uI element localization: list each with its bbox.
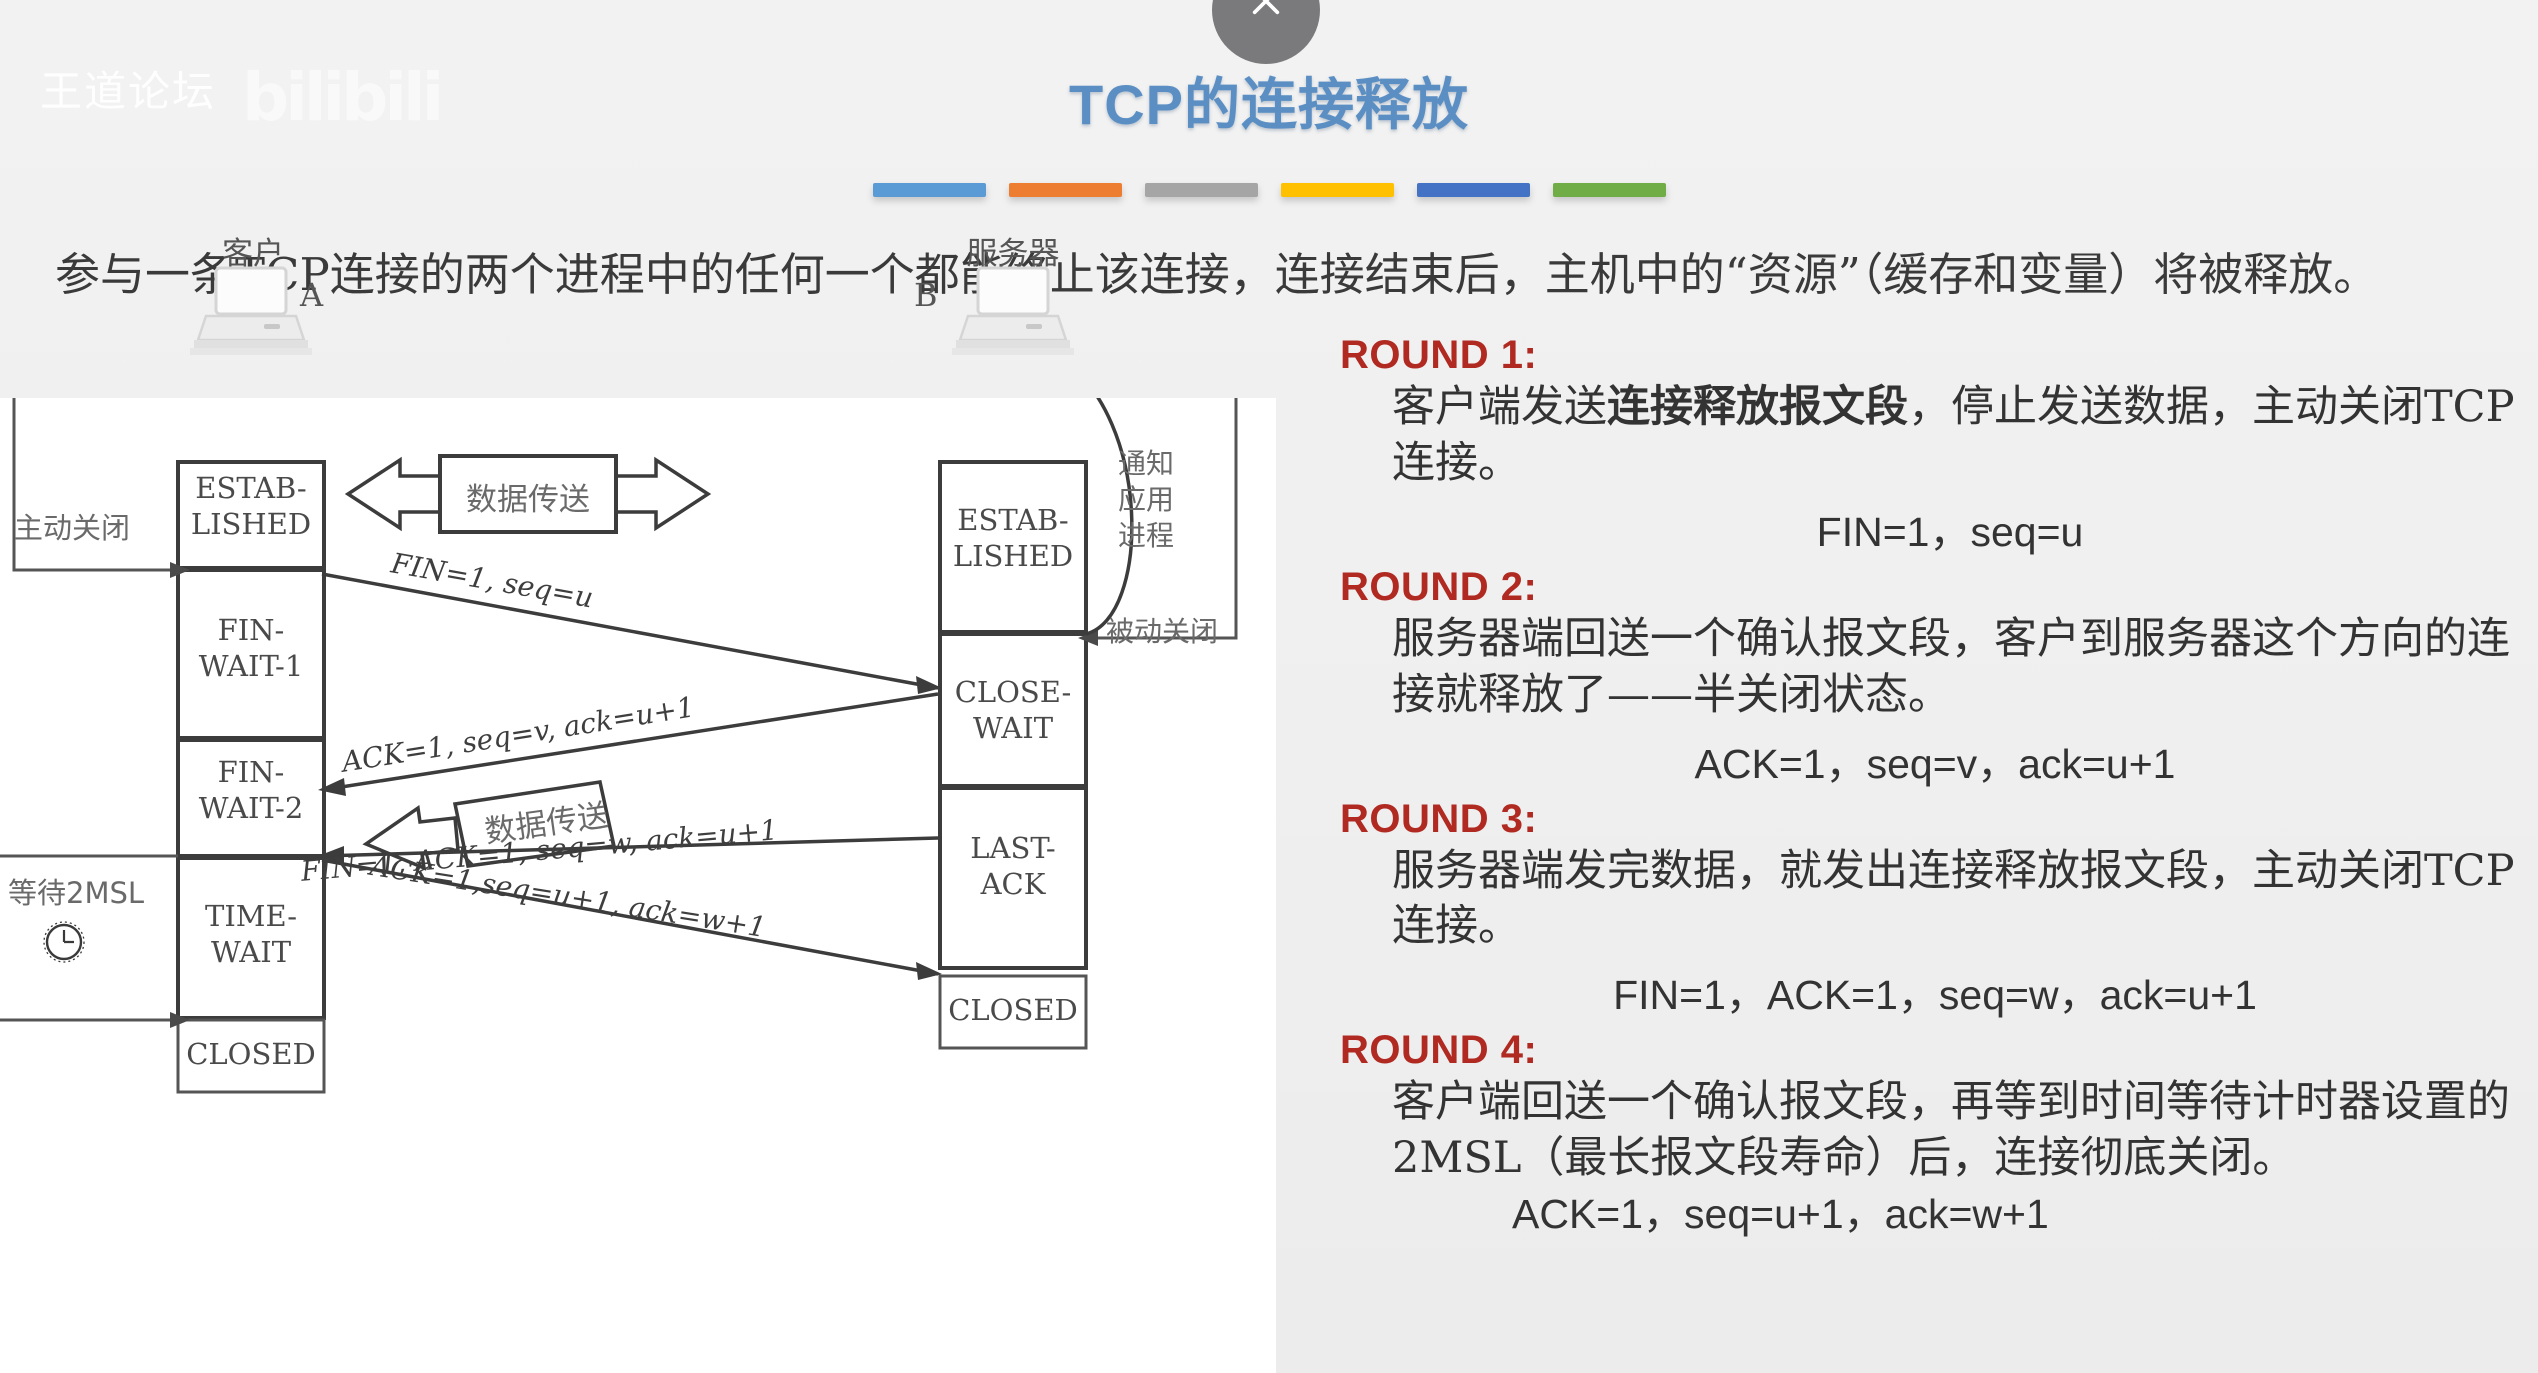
server-state-closed-label: CLOSED <box>948 993 1078 1027</box>
round-1-body: 客户端发送连接释放报文段，停止发送数据，主动关闭TCP连接。 <box>1392 380 2520 492</box>
tcp-release-svg: ESTAB- LISHED FIN- WAIT-1 FIN- WAIT-2 TI… <box>0 398 1276 1373</box>
accent-bar-1 <box>873 183 986 197</box>
round-3-heading: ROUND 3: <box>1340 794 2520 844</box>
client-state-established-line1: ESTAB- <box>195 471 306 505</box>
round-2-formula: ACK=1，seq=v，ack=u+1 <box>1340 730 2520 790</box>
client-wait-2msl-bracket <box>0 856 190 1028</box>
round-2-heading: ROUND 2: <box>1340 562 2520 612</box>
accent-bar-4 <box>1281 183 1394 197</box>
server-state-lastack-line2: ACK <box>980 867 1047 901</box>
client-state-timewait-line1: TIME- <box>205 899 297 933</box>
round-4-body-text: 客户端回送一个确认报文段，再等到时间等待计时器设置的2MSL（最长报文段寿命）后… <box>1392 1077 2510 1183</box>
accent-bar-3 <box>1145 183 1258 197</box>
round-3-body: 服务器端发完数据，就发出连接释放报文段，主动关闭TCP连接。 <box>1392 844 2520 956</box>
client-state-timewait-line2: WAIT <box>211 935 292 969</box>
server-state-established-line2: LISHED <box>953 539 1073 573</box>
round-2: ROUND 2: 服务器端回送一个确认报文段，客户到服务器这个方向的连接就释放了… <box>1340 562 2520 790</box>
close-icon <box>1249 0 1283 18</box>
client-state-finwait2-line2: WAIT-2 <box>199 791 304 825</box>
accent-bar-5 <box>1417 183 1530 197</box>
server-state-closewait <box>940 634 1086 786</box>
round-4: ROUND 4: 客户端回送一个确认报文段，再等到时间等待计时器设置的2MSL（… <box>1340 1025 2520 1243</box>
round-4-formula: ACK=1，seq=u+1，ack=w+1 <box>1392 1191 2049 1237</box>
page-title: TCP的连接释放 <box>0 60 2538 141</box>
data-transfer-top-arrow <box>348 456 708 532</box>
intro-paragraph: 参与一条TCP连接的两个进程中的任何一个都能终止该连接，连接结束后，主机中的“资… <box>55 245 2475 305</box>
round-1-body-bold: 连接释放报文段 <box>1607 382 1908 432</box>
round-3: ROUND 3: 服务器端发完数据，就发出连接释放报文段，主动关闭TCP连接。 … <box>1340 794 2520 1022</box>
message-arrow-ack-seq-v <box>318 694 938 796</box>
round-2-body: 服务器端回送一个确认报文段，客户到服务器这个方向的连接就释放了——半关闭状态。 <box>1392 612 2520 724</box>
round-1-heading: ROUND 1: <box>1340 330 2520 380</box>
message-arrow-ack-seq-u1 <box>322 860 942 980</box>
server-state-lastack-line1: LAST- <box>970 831 1055 865</box>
close-button[interactable] <box>1212 0 1320 64</box>
client-state-finwait2-line1: FIN- <box>218 755 285 789</box>
round-1-formula: FIN=1，seq=u <box>1340 498 2520 558</box>
round-1: ROUND 1: 客户端发送连接释放报文段，停止发送数据，主动关闭TCP连接。 … <box>1340 330 2520 558</box>
client-state-closed-label: CLOSED <box>186 1037 316 1071</box>
round-3-formula: FIN=1，ACK=1，seq=w，ack=u+1 <box>1340 961 2520 1021</box>
tcp-release-diagram: ESTAB- LISHED FIN- WAIT-1 FIN- WAIT-2 TI… <box>0 398 1276 1373</box>
message-arrow-fin-seq-u <box>322 574 942 694</box>
accent-bar-2 <box>1009 183 1122 197</box>
client-state-finwait1-line1: FIN- <box>218 613 285 647</box>
round-1-body-pre: 客户端发送 <box>1392 382 1607 432</box>
round-4-body: 客户端回送一个确认报文段，再等到时间等待计时器设置的2MSL（最长报文段寿命）后… <box>1392 1075 2520 1243</box>
accent-bar-6 <box>1553 183 1666 197</box>
client-state-finwait1-line2: WAIT-1 <box>199 649 304 683</box>
client-state-established-line2: LISHED <box>191 507 311 541</box>
accent-bars <box>0 183 2538 197</box>
rounds-column: ROUND 1: 客户端发送连接释放报文段，停止发送数据，主动关闭TCP连接。 … <box>1340 330 2520 1247</box>
round-4-heading: ROUND 4: <box>1340 1025 2520 1075</box>
server-state-closewait-line1: CLOSE- <box>955 675 1072 709</box>
server-passive-close-bracket <box>1078 398 1236 646</box>
client-active-close-bracket <box>14 398 190 578</box>
slide-canvas: 王道论坛 bilibili TCP的连接释放 参与一条TCP连接的两个进程中的任… <box>0 0 2538 1373</box>
server-state-established-line1: ESTAB- <box>957 503 1068 537</box>
server-state-closewait-line2: WAIT <box>973 711 1054 745</box>
